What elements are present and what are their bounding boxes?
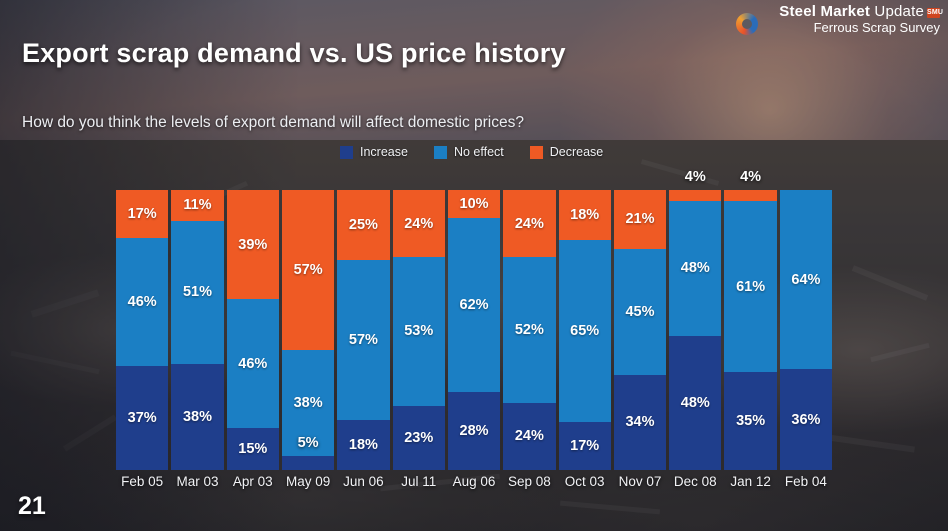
bar-segment-label: 53% <box>404 323 433 339</box>
bar-segment-label: 48% <box>681 260 710 276</box>
bar-segment-decrease: 4% <box>724 190 776 201</box>
x-axis-tick: May 09 <box>282 474 334 489</box>
logo-swoosh-icon <box>736 13 758 35</box>
bar-segment-decrease: 4% <box>669 190 721 201</box>
survey-question: How do you think the levels of export de… <box>22 114 524 132</box>
bar-segment-label: 39% <box>238 237 267 253</box>
bar-segment-label: 18% <box>349 437 378 453</box>
bar-segment-label: 37% <box>128 410 157 426</box>
bar-segment-decrease: 18% <box>559 190 611 240</box>
bar-segment-label: 64% <box>791 272 820 288</box>
bar-segment-decrease: 11% <box>171 190 223 221</box>
bar-segment-increase: 38% <box>171 364 223 470</box>
bar-segment-label: 38% <box>183 409 212 425</box>
legend-label-no-effect: No effect <box>454 145 504 159</box>
bar-column: 18%65%17% <box>559 190 611 470</box>
legend-item-decrease: Decrease <box>530 145 604 159</box>
bar-segment-label: 25% <box>349 217 378 233</box>
bar-segment-label: 52% <box>515 322 544 338</box>
x-axis-tick: Jul 11 <box>393 474 445 489</box>
bar-segment-no-effect: 45% <box>614 249 666 375</box>
bar-segment-label: 4% <box>669 169 721 185</box>
bar-segment-decrease: 25% <box>337 190 389 260</box>
bar-segment-no-effect: 48% <box>669 201 721 335</box>
bar-column: 4%61%35% <box>724 190 776 470</box>
bar-segment-increase: 15% <box>227 428 279 470</box>
bar-segment-no-effect: 65% <box>559 240 611 422</box>
logo-brand-thin: Update <box>870 3 924 20</box>
x-axis-tick: Feb 04 <box>780 474 832 489</box>
bar-column: 39%46%15% <box>227 190 279 470</box>
chart-legend: Increase No effect Decrease <box>340 145 603 159</box>
bar-segment-label: 51% <box>183 284 212 300</box>
legend-label-increase: Increase <box>360 145 408 159</box>
bar-segment-label: 46% <box>238 356 267 372</box>
bar-segment-increase: 48% <box>669 336 721 470</box>
x-axis-labels: Feb 05Mar 03Apr 03May 09Jun 06Jul 11Aug … <box>116 474 832 489</box>
bar-segment-no-effect: 64% <box>780 190 832 369</box>
bar-segment-label: 65% <box>570 323 599 339</box>
bar-segment-no-effect: 46% <box>116 238 168 367</box>
bar-segment-increase: 24% <box>503 403 555 470</box>
legend-label-decrease: Decrease <box>550 145 604 159</box>
x-axis-tick: Nov 07 <box>614 474 666 489</box>
bar-column: 10%62%28% <box>448 190 500 470</box>
bar-segment-increase: 34% <box>614 375 666 470</box>
bar-column: 4%48%48% <box>669 190 721 470</box>
bar-segment-no-effect: 53% <box>393 257 445 405</box>
x-axis-tick: Sep 08 <box>503 474 555 489</box>
bar-segment-label: 57% <box>294 262 323 278</box>
bar-column: 17%46%37% <box>116 190 168 470</box>
legend-swatch-increase <box>340 146 353 159</box>
bar-segment-label: 46% <box>128 294 157 310</box>
bar-segment-label: 48% <box>681 395 710 411</box>
bar-segment-label: 62% <box>460 297 489 313</box>
bar-column: 25%57%18% <box>337 190 389 470</box>
bar-segment-decrease: 24% <box>503 190 555 257</box>
legend-item-increase: Increase <box>340 145 408 159</box>
bar-segment-label: 17% <box>128 206 157 222</box>
x-axis-tick: Dec 08 <box>669 474 721 489</box>
bar-segment-label: 18% <box>570 207 599 223</box>
bar-segment-increase: 17% <box>559 422 611 470</box>
bar-segment-increase: 28% <box>448 392 500 470</box>
bar-segment-label: 21% <box>625 211 654 227</box>
bar-segment-decrease: 21% <box>614 190 666 249</box>
bar-segment-decrease: 17% <box>116 190 168 238</box>
bar-segment-decrease: 57% <box>282 190 334 350</box>
bar-column: 64%36% <box>780 190 832 470</box>
x-axis-tick: Aug 06 <box>448 474 500 489</box>
bar-segment-decrease: 39% <box>227 190 279 299</box>
smu-logo: Steel Market UpdateSMU Ferrous Scrap Sur… <box>750 4 940 48</box>
stacked-bar-chart: 17%46%37%11%51%38%39%46%15%57%38%5%25%57… <box>116 190 832 470</box>
bar-segment-label: 24% <box>515 216 544 232</box>
bar-segment-no-effect: 62% <box>448 218 500 392</box>
bar-segment-label: 35% <box>736 413 765 429</box>
bar-column: 11%51%38% <box>171 190 223 470</box>
bar-segment-label: 57% <box>349 332 378 348</box>
bar-column: 21%45%34% <box>614 190 666 470</box>
bar-segment-label: 4% <box>724 169 776 185</box>
bar-segment-increase: 23% <box>393 406 445 470</box>
bar-segment-increase: 5% <box>282 456 334 470</box>
bar-segment-label: 17% <box>570 438 599 454</box>
bar-column: 24%53%23% <box>393 190 445 470</box>
bar-segment-increase: 36% <box>780 369 832 470</box>
logo-brand-bold: Steel Market <box>779 3 870 20</box>
bar-column: 57%38%5% <box>282 190 334 470</box>
bar-segment-label: 5% <box>282 435 334 451</box>
bar-segment-label: 28% <box>460 423 489 439</box>
bar-segment-label: 38% <box>294 395 323 411</box>
x-axis-tick: Mar 03 <box>171 474 223 489</box>
x-axis-tick: Jun 06 <box>337 474 389 489</box>
bar-segment-increase: 37% <box>116 366 168 470</box>
bar-segment-label: 45% <box>625 304 654 320</box>
bar-segment-no-effect: 46% <box>227 299 279 428</box>
bar-segment-label: 24% <box>515 428 544 444</box>
x-axis-tick: Feb 05 <box>116 474 168 489</box>
bar-segment-increase: 35% <box>724 372 776 470</box>
legend-swatch-decrease <box>530 146 543 159</box>
page-title: Export scrap demand vs. US price history <box>22 38 566 69</box>
x-axis-tick: Jan 12 <box>724 474 776 489</box>
bar-segment-label: 61% <box>736 279 765 295</box>
x-axis-tick: Oct 03 <box>559 474 611 489</box>
logo-line-1: Steel Market UpdateSMU <box>750 4 940 20</box>
bar-segment-no-effect: 61% <box>724 201 776 372</box>
bar-segment-label: 10% <box>460 196 489 212</box>
bar-segment-increase: 18% <box>337 420 389 470</box>
legend-item-no-effect: No effect <box>434 145 504 159</box>
bar-segment-decrease: 24% <box>393 190 445 257</box>
bar-segment-label: 36% <box>791 412 820 428</box>
bar-segment-label: 23% <box>404 430 433 446</box>
bar-segment-decrease: 10% <box>448 190 500 218</box>
bar-segment-label: 34% <box>625 414 654 430</box>
x-axis-tick: Apr 03 <box>227 474 279 489</box>
logo-badge: SMU <box>927 8 940 18</box>
bar-segment-no-effect: 51% <box>171 221 223 364</box>
bar-segment-no-effect: 57% <box>337 260 389 420</box>
logo-line-2: Ferrous Scrap Survey <box>750 20 940 35</box>
bar-column: 24%52%24% <box>503 190 555 470</box>
bar-segment-no-effect: 52% <box>503 257 555 403</box>
bar-segment-label: 11% <box>183 197 211 213</box>
bar-segment-label: 24% <box>404 216 433 232</box>
legend-swatch-no-effect <box>434 146 447 159</box>
bar-segment-label: 15% <box>238 441 267 457</box>
slide-number: 21 <box>18 492 46 521</box>
